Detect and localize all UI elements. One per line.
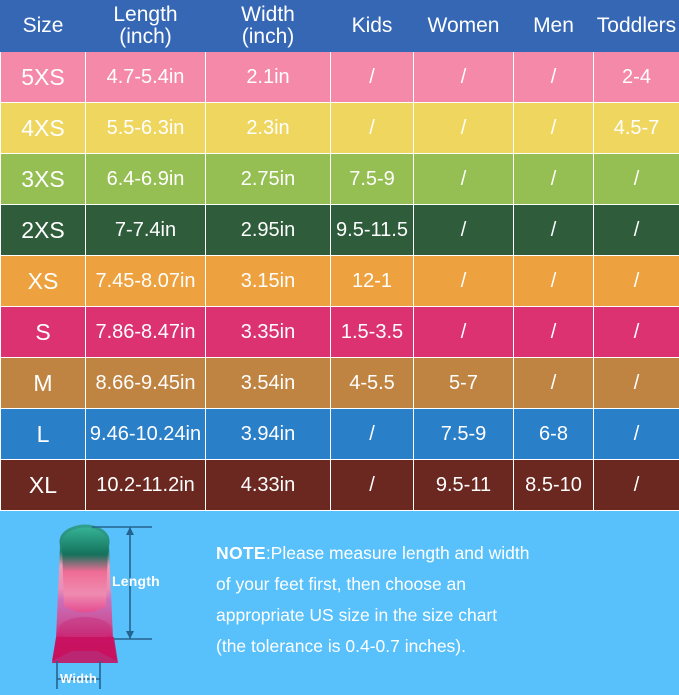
cell-men: /: [514, 307, 594, 358]
cell-width: 2.75in: [206, 154, 331, 205]
cell-kids: /: [331, 52, 414, 103]
table-row: 2XS7-7.4in2.95in9.5-11.5///: [1, 205, 679, 256]
column-header-kids: Kids: [331, 1, 414, 52]
cell-length: 7.45-8.07in: [86, 256, 206, 307]
cell-men: /: [514, 256, 594, 307]
cell-toddlers: /: [594, 358, 679, 409]
cell-size: S: [1, 307, 86, 358]
cell-size: XL: [1, 460, 86, 511]
cell-women: /: [414, 307, 514, 358]
cell-length: 4.7-5.4in: [86, 52, 206, 103]
fin-foot-pocket: [62, 528, 109, 613]
column-header-width: Width (inch): [206, 1, 331, 52]
cell-width: 2.3in: [206, 103, 331, 154]
table-row: M8.66-9.45in3.54in4-5.55-7//: [1, 358, 679, 409]
column-header-length: Length (inch): [86, 1, 206, 52]
cell-kids: 9.5-11.5: [331, 205, 414, 256]
cell-women: 5-7: [414, 358, 514, 409]
column-header-toddlers: Toddlers: [594, 1, 679, 52]
note-text-block: NOTE:Please measure length and width of …: [210, 511, 679, 695]
cell-length: 10.2-11.2in: [86, 460, 206, 511]
cell-women: 7.5-9: [414, 409, 514, 460]
swim-fin-illustration: [0, 511, 210, 690]
column-header-men: Men: [514, 1, 594, 52]
cell-length: 5.5-6.3in: [86, 103, 206, 154]
cell-kids: /: [331, 409, 414, 460]
cell-length: 8.66-9.45in: [86, 358, 206, 409]
cell-size: 2XS: [1, 205, 86, 256]
note-band: Length Width NOTE:Please measure length …: [0, 511, 679, 695]
cell-size: L: [1, 409, 86, 460]
note-line-text: :Please measure length and width: [266, 543, 530, 563]
header-label: Men: [533, 14, 574, 37]
cell-men: /: [514, 205, 594, 256]
header-label: Women: [428, 14, 500, 37]
header-unit: (inch): [86, 26, 205, 48]
size-table: Size Length (inch) Width (inch) Kids Wom…: [0, 0, 679, 511]
table-row: 5XS4.7-5.4in2.1in///2-4: [1, 52, 679, 103]
cell-women: /: [414, 205, 514, 256]
cell-toddlers: /: [594, 460, 679, 511]
cell-toddlers: 4.5-7: [594, 103, 679, 154]
cell-toddlers: /: [594, 256, 679, 307]
cell-women: /: [414, 103, 514, 154]
header-label: Length: [113, 3, 177, 26]
cell-size: M: [1, 358, 86, 409]
header-label: Size: [23, 14, 64, 37]
size-chart-image: Size Length (inch) Width (inch) Kids Wom…: [0, 0, 679, 679]
cell-men: /: [514, 52, 594, 103]
cell-toddlers: /: [594, 409, 679, 460]
fin-bottom-band: [52, 637, 118, 663]
cell-men: /: [514, 154, 594, 205]
cell-women: /: [414, 154, 514, 205]
fin-diagram: Length Width: [0, 511, 210, 695]
cell-men: 8.5-10: [514, 460, 594, 511]
cell-kids: 4-5.5: [331, 358, 414, 409]
cell-women: /: [414, 256, 514, 307]
note-prefix: NOTE: [216, 543, 266, 563]
length-dimension-label: Length: [112, 573, 160, 589]
header-label: Toddlers: [597, 14, 676, 37]
note-line-3: appropriate US size in the size chart: [216, 600, 665, 631]
table-header: Size Length (inch) Width (inch) Kids Wom…: [1, 1, 679, 52]
column-header-women: Women: [414, 1, 514, 52]
cell-kids: /: [331, 460, 414, 511]
header-unit: (inch): [206, 26, 330, 48]
cell-toddlers: 2-4: [594, 52, 679, 103]
cell-men: /: [514, 358, 594, 409]
header-row: Size Length (inch) Width (inch) Kids Wom…: [1, 1, 679, 52]
note-line-2: of your feet first, then choose an: [216, 569, 665, 600]
cell-width: 2.95in: [206, 205, 331, 256]
column-header-size: Size: [1, 1, 86, 52]
cell-size: 5XS: [1, 52, 86, 103]
cell-kids: 1.5-3.5: [331, 307, 414, 358]
header-label: Kids: [352, 14, 393, 37]
cell-toddlers: /: [594, 154, 679, 205]
cell-width: 3.94in: [206, 409, 331, 460]
table-row: XS7.45-8.07in3.15in12-1///: [1, 256, 679, 307]
header-label: Width: [241, 3, 295, 26]
cell-size: 4XS: [1, 103, 86, 154]
length-arrow-down-icon: [126, 631, 134, 639]
cell-size: XS: [1, 256, 86, 307]
note-line-4: (the tolerance is 0.4-0.7 inches).: [216, 631, 665, 662]
cell-kids: 12-1: [331, 256, 414, 307]
cell-width: 3.35in: [206, 307, 331, 358]
cell-kids: 7.5-9: [331, 154, 414, 205]
table-row: 4XS5.5-6.3in2.3in///4.5-7: [1, 103, 679, 154]
cell-women: /: [414, 52, 514, 103]
cell-men: /: [514, 103, 594, 154]
table-row: XL10.2-11.2in4.33in/9.5-118.5-10/: [1, 460, 679, 511]
cell-men: 6-8: [514, 409, 594, 460]
cell-toddlers: /: [594, 307, 679, 358]
cell-length: 6.4-6.9in: [86, 154, 206, 205]
cell-width: 3.54in: [206, 358, 331, 409]
cell-size: 3XS: [1, 154, 86, 205]
cell-length: 7-7.4in: [86, 205, 206, 256]
cell-kids: /: [331, 103, 414, 154]
table-row: S7.86-8.47in3.35in1.5-3.5///: [1, 307, 679, 358]
cell-width: 2.1in: [206, 52, 331, 103]
table-row: L9.46-10.24in3.94in/7.5-96-8/: [1, 409, 679, 460]
cell-width: 3.15in: [206, 256, 331, 307]
cell-width: 4.33in: [206, 460, 331, 511]
cell-toddlers: /: [594, 205, 679, 256]
note-line-1: NOTE:Please measure length and width: [216, 538, 665, 569]
cell-length: 9.46-10.24in: [86, 409, 206, 460]
cell-women: 9.5-11: [414, 460, 514, 511]
table-body: 5XS4.7-5.4in2.1in///2-44XS5.5-6.3in2.3in…: [1, 52, 679, 511]
cell-length: 7.86-8.47in: [86, 307, 206, 358]
length-arrow-up-icon: [126, 527, 134, 535]
table-row: 3XS6.4-6.9in2.75in7.5-9///: [1, 154, 679, 205]
